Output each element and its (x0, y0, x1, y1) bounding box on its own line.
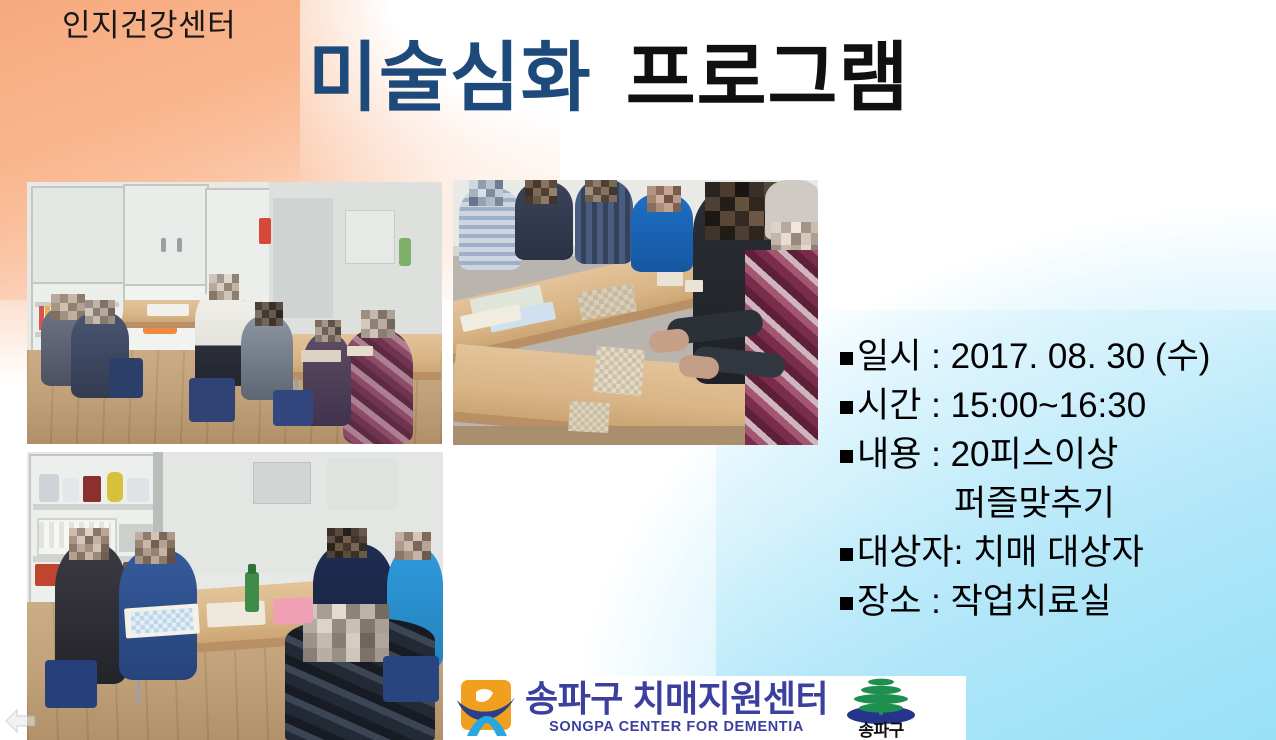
detail-item-place: 장소 : 작업치료실 (840, 577, 1270, 626)
detail-value-time: 15:00~16:30 (951, 386, 1147, 425)
logo-english-name: SONGPA CENTER FOR DEMENTIA (525, 718, 828, 736)
detail-item-content: 내용 : 20피스이상 퍼즐맞추기 (840, 430, 1270, 528)
bullet-square-icon (840, 450, 853, 463)
bullet-square-icon (840, 352, 853, 365)
detail-separator: : (921, 386, 950, 425)
detail-value-content-continued: 퍼즐맞추기 (840, 479, 1270, 528)
detail-value-content: 20피스이상 (951, 435, 1119, 474)
detail-item-time: 시간 : 15:00~16:30 (840, 381, 1270, 430)
photo-top-right (453, 180, 818, 445)
detail-separator: : (921, 337, 950, 376)
detail-separator: : (921, 582, 950, 621)
detail-value-place: 작업치료실 (951, 582, 1112, 621)
title-primary: 미술심화 (308, 36, 592, 121)
detail-label-date: 일시 (857, 337, 921, 376)
footer-logo-band: 송파구 치매지원센터 SONGPA CENTER FOR DEMENTIA 송파… (455, 676, 966, 740)
bullet-square-icon (840, 597, 853, 610)
page-title: 미술심화프로그램 (308, 36, 909, 122)
bullet-square-icon (840, 548, 853, 561)
detail-value-date: 2017. 08. 30 (수) (951, 337, 1211, 376)
photo-top-left (27, 182, 442, 444)
photo-bottom-left (27, 452, 443, 740)
detail-label-target: 대상자 (857, 533, 954, 572)
songpa-dementia-center-logo-icon (457, 680, 515, 736)
detail-label-content: 내용 (857, 435, 921, 474)
prev-slide-arrow-icon[interactable] (4, 708, 38, 734)
detail-label-place: 장소 (857, 582, 921, 621)
detail-separator: : (954, 533, 973, 572)
detail-item-date: 일시 : 2017. 08. 30 (수) (840, 332, 1270, 381)
detail-value-target: 치매 대상자 (973, 533, 1144, 572)
presentation-slide: 인지건강센터 미술심화프로그램 (0, 0, 1276, 740)
program-details-list: 일시 : 2017. 08. 30 (수) 시간 : 15:00~16:30 내… (840, 332, 1270, 626)
detail-label-time: 시간 (857, 386, 921, 425)
detail-item-target: 대상자: 치매 대상자 (840, 528, 1270, 577)
logo-wordmark: 송파구 치매지원센터 SONGPA CENTER FOR DEMENTIA (525, 680, 828, 736)
songpa-gu-emblem-icon: 송파구 (842, 677, 920, 739)
bullet-square-icon (840, 401, 853, 414)
center-name-label: 인지건강센터 (62, 6, 236, 46)
logo-korean-name: 송파구 치매지원센터 (525, 680, 828, 718)
district-emblem-label: 송파구 (842, 722, 920, 740)
detail-separator: : (921, 435, 950, 474)
title-secondary: 프로그램 (626, 36, 910, 121)
